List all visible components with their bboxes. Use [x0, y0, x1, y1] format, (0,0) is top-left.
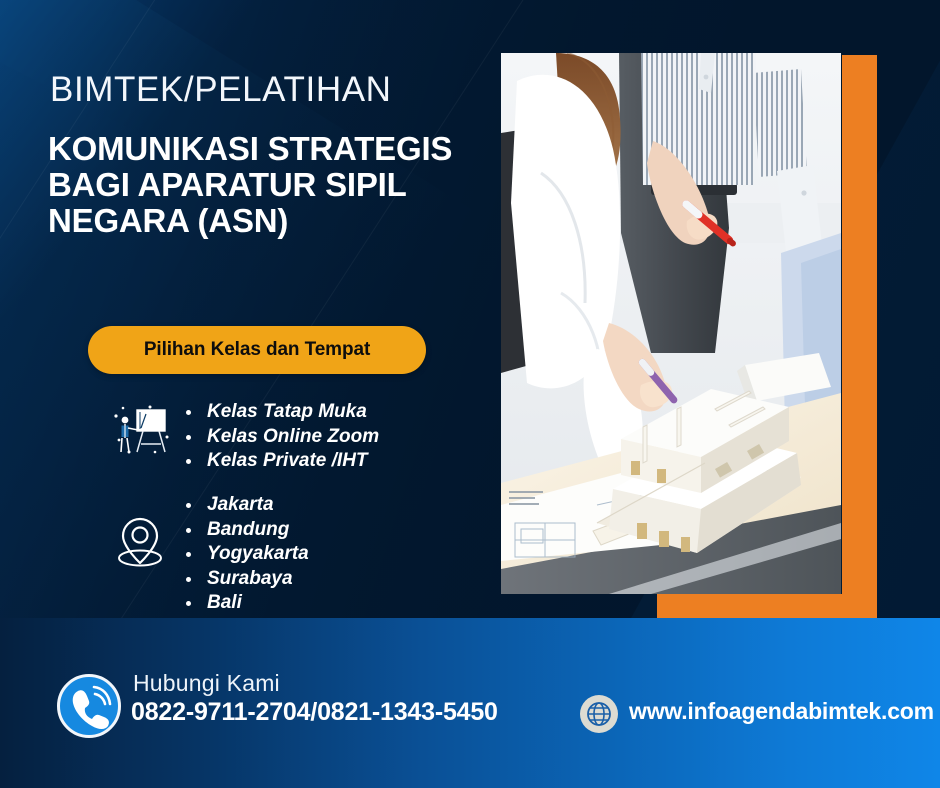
promotional-poster: BIMTEK/PELATIHAN KOMUNIKASI STRATEGIS BA…	[0, 0, 940, 788]
eyebrow-text: BIMTEK/PELATIHAN	[50, 70, 392, 110]
list-item: Yogyakarta	[182, 542, 309, 567]
presenter-flipchart-icon	[110, 400, 172, 467]
phone-call-icon[interactable]	[57, 674, 121, 738]
team-reviewing-architectural-model-photo	[501, 53, 841, 594]
list-item: Bandung	[182, 518, 309, 543]
list-item: Kelas Private /IHT	[182, 449, 379, 474]
contact-label: Hubungi Kami	[133, 670, 280, 697]
orange-accent-bar	[842, 55, 877, 594]
list-item: Kelas Online Zoom	[182, 425, 379, 450]
contact-phone-number[interactable]: 0822-9711-2704/0821-1343-5450	[131, 698, 498, 727]
globe-icon[interactable]	[580, 695, 618, 733]
section-badge-label: Pilihan Kelas dan Tempat	[88, 326, 426, 374]
class-options-list: Kelas Tatap Muka Kelas Online Zoom Kelas…	[182, 400, 379, 474]
locations-list: Jakarta Bandung Yogyakarta Surabaya Bali	[182, 493, 309, 616]
orange-accent-footer-block	[657, 594, 877, 618]
website-url[interactable]: www.infoagendabimtek.com	[629, 698, 934, 725]
list-item: Surabaya	[182, 567, 309, 592]
list-item: Bali	[182, 591, 309, 616]
list-item: Kelas Tatap Muka	[182, 400, 379, 425]
list-item: Jakarta	[182, 493, 309, 518]
page-title: KOMUNIKASI STRATEGIS BAGI APARATUR SIPIL…	[48, 131, 508, 239]
section-badge: Pilihan Kelas dan Tempat	[88, 326, 426, 374]
map-pin-icon	[110, 511, 170, 578]
